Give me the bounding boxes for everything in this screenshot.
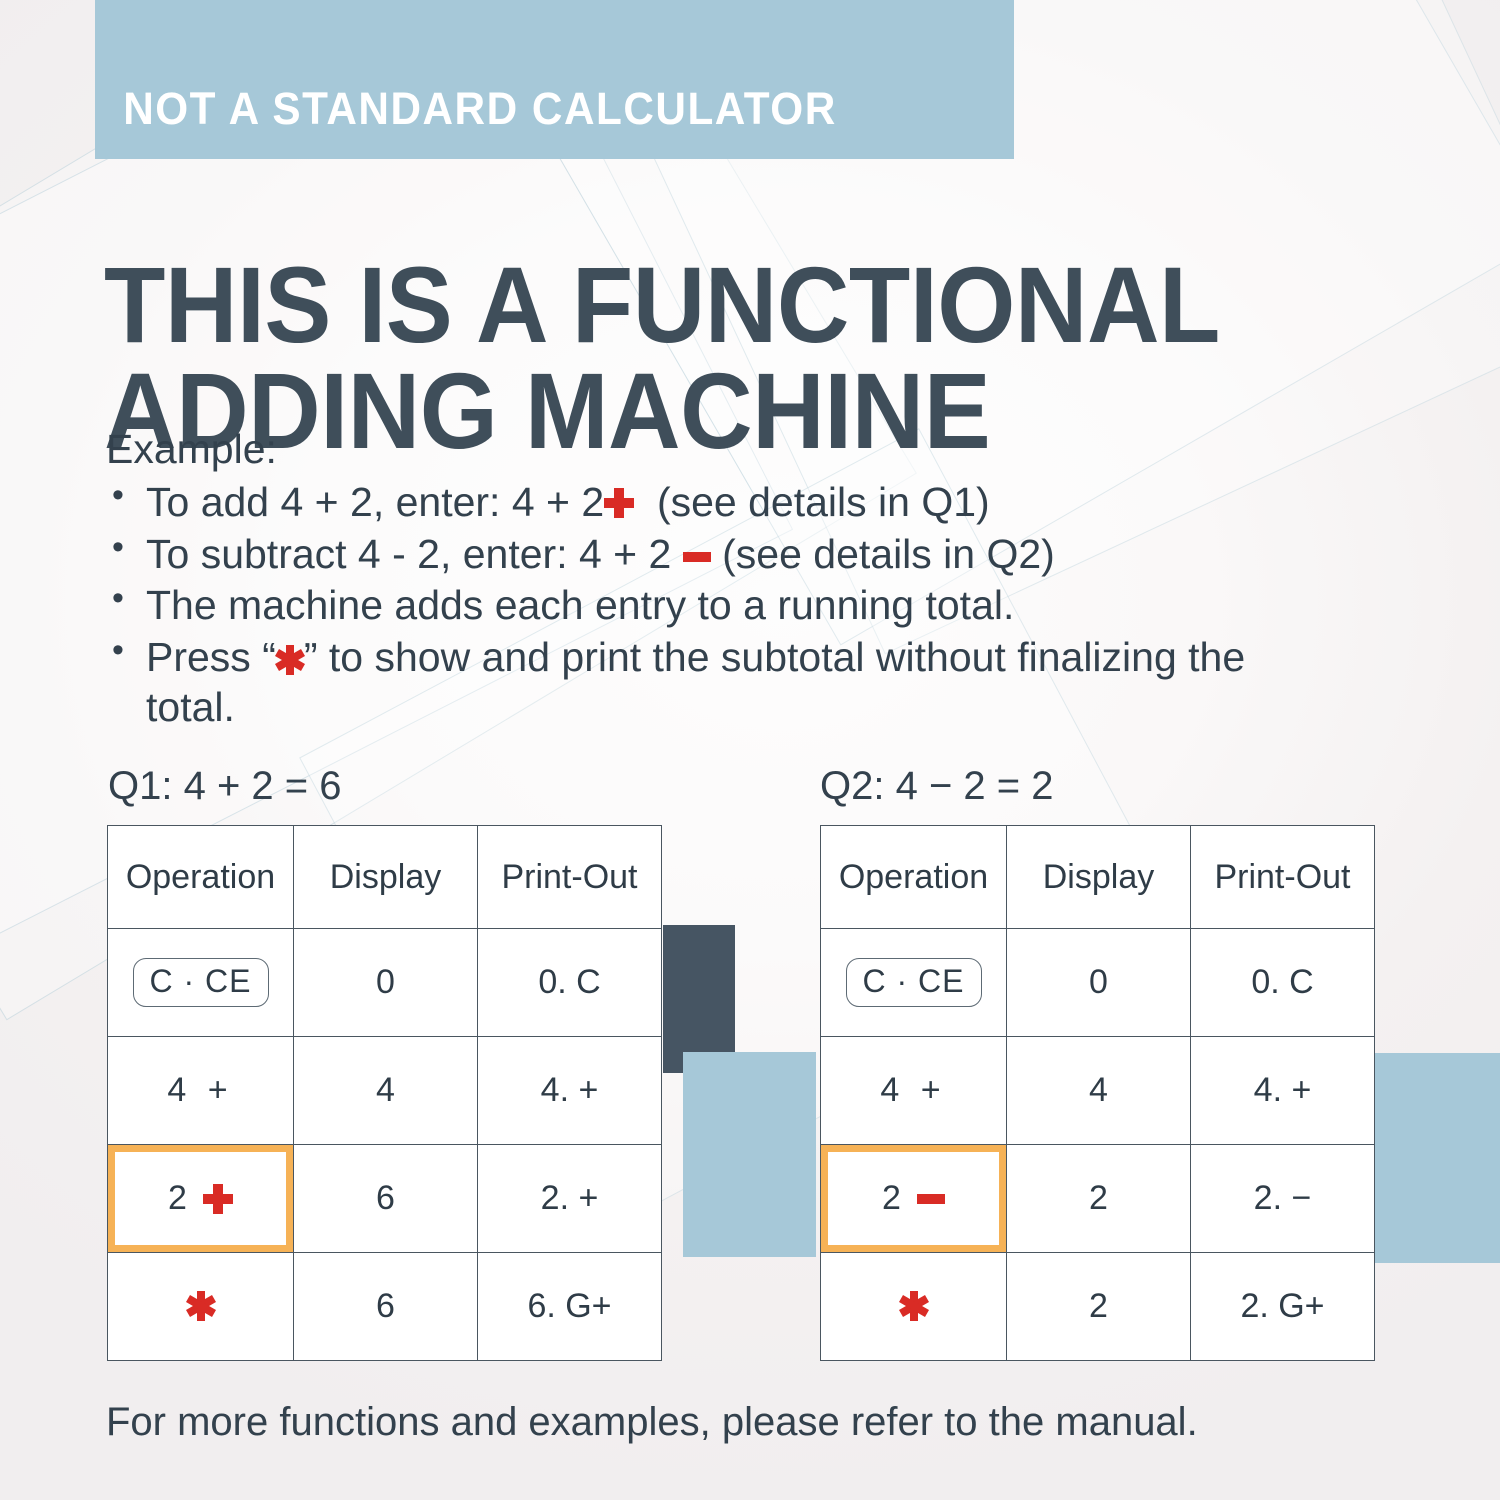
column-header-printout: Print-Out (1191, 826, 1375, 929)
minus-icon (683, 552, 711, 562)
clear-entry-key: C · CE (133, 958, 269, 1007)
cell-display: 2 (1007, 1145, 1191, 1253)
operation-entry: 2 (168, 1179, 233, 1218)
eyebrow-banner: NOT A STANDARD CALCULATOR (95, 0, 1014, 159)
table-row: 6 6. G+ (108, 1253, 662, 1361)
table-row: C · CE 0 0. C (108, 929, 662, 1037)
column-header-display: Display (294, 826, 478, 929)
cell-operation: 4 + (821, 1037, 1007, 1145)
deco-block-dark (663, 925, 735, 1073)
cell-operation (821, 1253, 1007, 1361)
plus-icon (203, 1184, 233, 1214)
bullet-text-pre: To add 4 + 2, enter: 4 + 2 (146, 479, 604, 525)
column-header-printout: Print-Out (478, 826, 662, 929)
q1-label: Q1: 4 + 2 = 6 (108, 764, 342, 809)
table-header-row: Operation Display Print-Out (821, 826, 1375, 929)
bullet-text-pre: Press “ (146, 634, 276, 680)
bullet-text-pre: The machine adds each entry to a running… (146, 582, 1014, 628)
cell-display: 4 (1007, 1037, 1191, 1145)
q2-table-wrapper: Operation Display Print-Out C · CE 0 0. … (820, 825, 1374, 1358)
cell-printout: 4. + (478, 1037, 662, 1145)
example-section: Example: To add 4 + 2, enter: 4 + 2 (see… (106, 424, 1286, 734)
q2-label: Q2: 4 − 2 = 2 (820, 764, 1054, 809)
cell-operation: 4 + (108, 1037, 294, 1145)
star-icon (187, 1292, 215, 1320)
cell-printout: 0. C (1191, 929, 1375, 1037)
eyebrow-label: NOT A STANDARD CALCULATOR (95, 83, 837, 159)
page-title-line-1: THIS IS A FUNCTIONAL (104, 244, 1220, 365)
column-header-operation: Operation (108, 826, 294, 929)
cell-printout: 2. G+ (1191, 1253, 1375, 1361)
table-header-row: Operation Display Print-Out (108, 826, 662, 929)
cell-printout: 6. G+ (478, 1253, 662, 1361)
cell-operation (108, 1253, 294, 1361)
cell-display: 0 (1007, 929, 1191, 1037)
cell-printout: 2. + (478, 1145, 662, 1253)
bullet-text-pre: To subtract 4 - 2, enter: 4 + 2 (146, 531, 671, 577)
cell-display: 6 (294, 1145, 478, 1253)
example-bullet-list: To add 4 + 2, enter: 4 + 2 (see details … (106, 477, 1286, 732)
bullet-text-post: (see details in Q1) (657, 479, 990, 525)
cell-display: 4 (294, 1037, 478, 1145)
minus-icon (917, 1194, 945, 1204)
table-row: 4 + 4 4. + (821, 1037, 1375, 1145)
operand-value: 2 (168, 1179, 187, 1218)
list-item: To subtract 4 - 2, enter: 4 + 2 (see det… (106, 529, 1286, 579)
star-icon (900, 1292, 928, 1320)
table-row: 2 6 2. + (108, 1145, 662, 1253)
list-item: To add 4 + 2, enter: 4 + 2 (see details … (106, 477, 1286, 527)
cell-operation-highlighted: 2 (108, 1145, 294, 1253)
bullet-text-post: (see details in Q2) (722, 531, 1055, 577)
star-icon (276, 646, 304, 674)
cell-operation-highlighted: 2 (821, 1145, 1007, 1253)
table-row: 4 + 4 4. + (108, 1037, 662, 1145)
poster-canvas: NOT A STANDARD CALCULATOR THIS IS A FUNC… (0, 0, 1500, 1500)
list-item: The machine adds each entry to a running… (106, 580, 1286, 630)
cell-display: 2 (1007, 1253, 1191, 1361)
cell-display: 6 (294, 1253, 478, 1361)
footer-note: For more functions and examples, please … (106, 1400, 1198, 1445)
cell-operation: C · CE (108, 929, 294, 1037)
deco-block-blue-center (683, 1052, 816, 1257)
column-header-operation: Operation (821, 826, 1007, 929)
cell-printout: 0. C (478, 929, 662, 1037)
table-row: 2 2. G+ (821, 1253, 1375, 1361)
table-row: C · CE 0 0. C (821, 929, 1375, 1037)
operand-value: 2 (882, 1179, 901, 1218)
q2-table: Operation Display Print-Out C · CE 0 0. … (820, 825, 1375, 1361)
list-item: Press “” to show and print the subtotal … (106, 632, 1286, 733)
cell-display: 0 (294, 929, 478, 1037)
plus-icon (604, 488, 634, 518)
cell-printout: 4. + (1191, 1037, 1375, 1145)
column-header-display: Display (1007, 826, 1191, 929)
deco-block-blue-right (1375, 1053, 1500, 1263)
operation-entry: 2 (882, 1179, 945, 1218)
q1-table-wrapper: Operation Display Print-Out C · CE 0 0. … (107, 825, 661, 1358)
example-label: Example: (106, 424, 1286, 474)
q1-table: Operation Display Print-Out C · CE 0 0. … (107, 825, 662, 1361)
table-row: 2 2 2. − (821, 1145, 1375, 1253)
cell-printout: 2. − (1191, 1145, 1375, 1253)
cell-operation: C · CE (821, 929, 1007, 1037)
bullet-text-post: ” to show and print the subtotal without… (146, 634, 1245, 730)
clear-entry-key: C · CE (846, 958, 982, 1007)
